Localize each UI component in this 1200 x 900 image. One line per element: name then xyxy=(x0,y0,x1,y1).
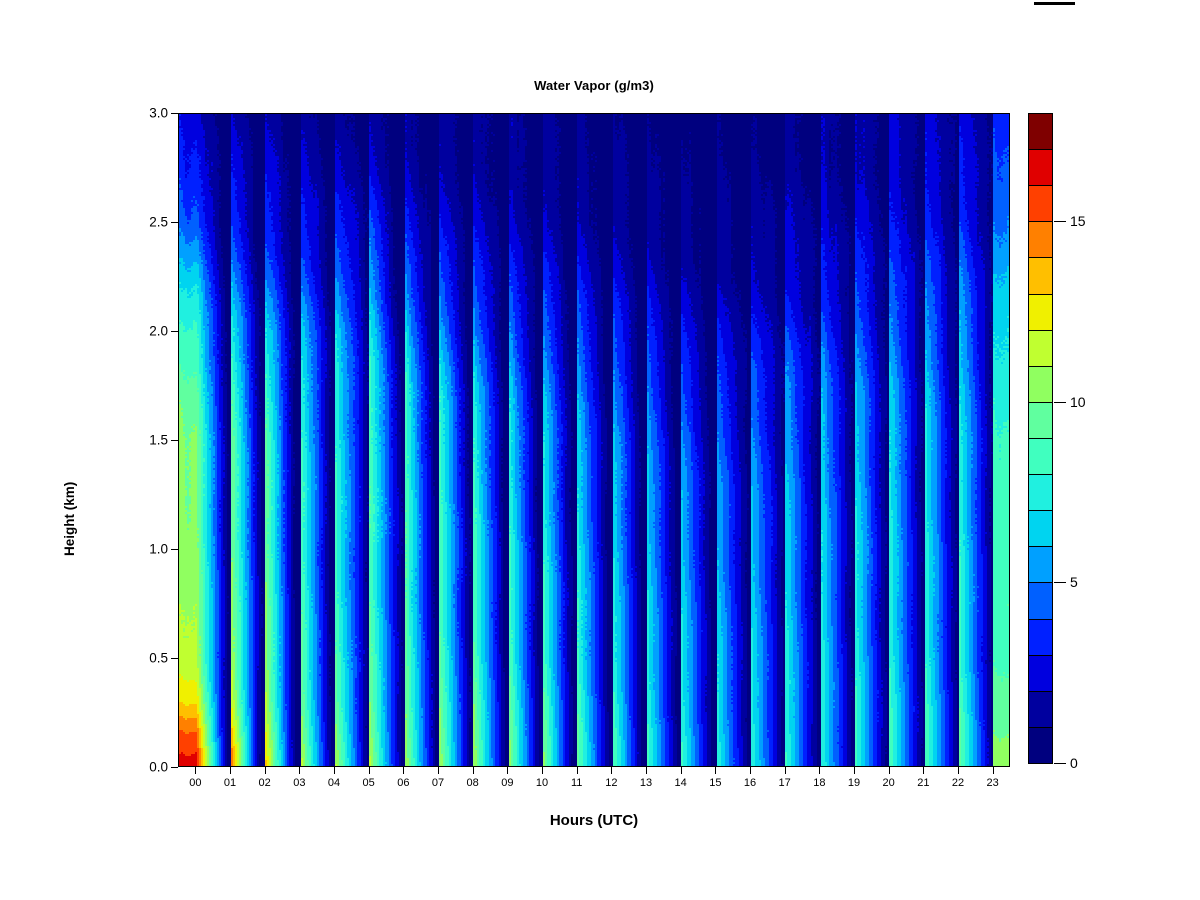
y-axis-tick-label: 1.0 xyxy=(122,542,168,557)
colorbar-band xyxy=(1028,546,1053,583)
x-axis-tick-label: 13 xyxy=(633,777,659,789)
x-axis-tick-mark xyxy=(646,767,647,774)
x-axis-tick-label: 22 xyxy=(945,777,971,789)
x-axis-tick-label: 06 xyxy=(390,777,416,789)
colorbar xyxy=(1028,113,1053,763)
x-axis-tick-label: 18 xyxy=(806,777,832,789)
x-axis-tick-label: 04 xyxy=(321,777,347,789)
x-axis-tick-label: 14 xyxy=(668,777,694,789)
x-axis-tick-mark xyxy=(577,767,578,774)
y-axis-tick-label: 1.5 xyxy=(122,433,168,448)
colorbar-band xyxy=(1028,221,1053,258)
colorbar-band xyxy=(1028,655,1053,692)
x-axis-tick-label: 21 xyxy=(910,777,936,789)
x-axis-tick-label: 11 xyxy=(564,777,590,789)
x-axis-tick-mark xyxy=(473,767,474,774)
y-axis-tick-mark xyxy=(171,222,178,223)
colorbar-band xyxy=(1028,691,1053,728)
x-axis-tick-label: 05 xyxy=(356,777,382,789)
x-axis-tick-label: 16 xyxy=(737,777,763,789)
x-axis-tick-mark xyxy=(507,767,508,774)
colorbar-band xyxy=(1028,294,1053,331)
colorbar-band xyxy=(1028,402,1053,439)
x-axis-tick-mark xyxy=(542,767,543,774)
x-axis-tick-label: 00 xyxy=(182,777,208,789)
x-axis-tick-label: 19 xyxy=(841,777,867,789)
y-axis-tick-mark xyxy=(171,440,178,441)
page-title: Water Vapor (g/m3) xyxy=(178,78,1010,93)
x-axis-tick-mark xyxy=(819,767,820,774)
colorbar-band xyxy=(1028,149,1053,186)
colorbar-band xyxy=(1028,438,1053,475)
x-axis-tick-label: 15 xyxy=(702,777,728,789)
heatmap-plot-area xyxy=(178,113,1010,767)
colorbar-tick-label: 15 xyxy=(1070,213,1086,229)
x-axis-tick-label: 07 xyxy=(425,777,451,789)
colorbar-band xyxy=(1028,257,1053,294)
x-axis-tick-mark xyxy=(438,767,439,774)
x-axis-tick-mark xyxy=(403,767,404,774)
y-axis-tick-mark xyxy=(171,113,178,114)
colorbar-tick-mark xyxy=(1054,221,1066,222)
colorbar-tick-label: 0 xyxy=(1070,755,1078,771)
colorbar-band xyxy=(1028,366,1053,403)
y-axis-tick-label: 0.0 xyxy=(122,760,168,775)
x-axis-tick-mark xyxy=(715,767,716,774)
y-axis-tick-label: 2.0 xyxy=(122,324,168,339)
x-axis-tick-mark xyxy=(334,767,335,774)
x-axis-title: Hours (UTC) xyxy=(178,812,1010,829)
y-axis-title: Height (km) xyxy=(62,482,77,556)
x-axis-tick-mark xyxy=(611,767,612,774)
x-axis-tick-mark xyxy=(299,767,300,774)
colorbar-tick-mark xyxy=(1054,402,1066,403)
x-axis-tick-label: 03 xyxy=(286,777,312,789)
x-axis-tick-label: 02 xyxy=(252,777,278,789)
colorbar-band xyxy=(1028,330,1053,367)
x-axis-tick-label: 09 xyxy=(494,777,520,789)
x-axis-tick-mark xyxy=(993,767,994,774)
colorbar-band xyxy=(1028,474,1053,511)
x-axis-tick-mark xyxy=(195,767,196,774)
x-axis-tick-mark xyxy=(265,767,266,774)
figure-canvas: Water Vapor (g/m3) 0.00.51.01.52.02.53.0… xyxy=(0,0,1200,900)
x-axis-tick-label: 08 xyxy=(460,777,486,789)
x-axis-tick-mark xyxy=(958,767,959,774)
colorbar-band xyxy=(1028,619,1053,656)
heatmap-image xyxy=(179,114,1010,767)
colorbar-tick-label: 10 xyxy=(1070,394,1086,410)
y-axis-tick-mark xyxy=(171,767,178,768)
y-axis-tick-mark xyxy=(171,549,178,550)
x-axis-tick-mark xyxy=(889,767,890,774)
x-axis-tick-label: 23 xyxy=(980,777,1006,789)
colorbar-band xyxy=(1028,113,1053,150)
y-axis-tick-label: 2.5 xyxy=(122,215,168,230)
colorbar-band xyxy=(1028,510,1053,547)
top-edge-artifact xyxy=(1034,2,1075,5)
x-axis-tick-mark xyxy=(681,767,682,774)
x-axis-tick-mark xyxy=(230,767,231,774)
x-axis-tick-mark xyxy=(854,767,855,774)
x-axis-tick-label: 01 xyxy=(217,777,243,789)
y-axis-tick-mark xyxy=(171,331,178,332)
x-axis-tick-mark xyxy=(750,767,751,774)
x-axis-tick-mark xyxy=(923,767,924,774)
colorbar-band xyxy=(1028,582,1053,619)
colorbar-band xyxy=(1028,185,1053,222)
y-axis-tick-mark xyxy=(171,658,178,659)
colorbar-band xyxy=(1028,727,1053,764)
x-axis-tick-label: 20 xyxy=(876,777,902,789)
y-axis-tick-label: 0.5 xyxy=(122,651,168,666)
colorbar-tick-mark xyxy=(1054,763,1066,764)
x-axis-tick-label: 12 xyxy=(598,777,624,789)
colorbar-tick-mark xyxy=(1054,582,1066,583)
x-axis-tick-mark xyxy=(785,767,786,774)
y-axis-tick-label: 3.0 xyxy=(122,106,168,121)
x-axis-tick-label: 10 xyxy=(529,777,555,789)
colorbar-tick-label: 5 xyxy=(1070,574,1078,590)
x-axis-tick-mark xyxy=(369,767,370,774)
x-axis-tick-label: 17 xyxy=(772,777,798,789)
